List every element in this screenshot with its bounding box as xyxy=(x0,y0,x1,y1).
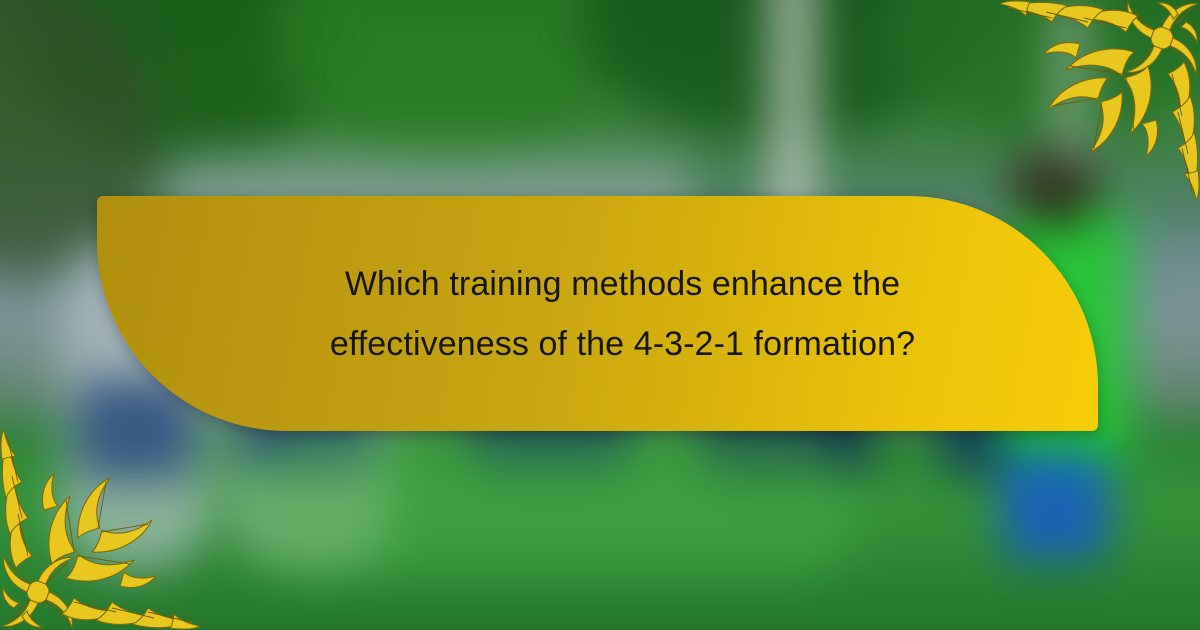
question-text: Which training methods enhance the effec… xyxy=(97,254,1098,374)
blur-blob-grass-light xyxy=(240,430,860,580)
floral-corner-ornament-top-right xyxy=(1000,0,1200,200)
floral-corner-ornament-bottom-left xyxy=(0,430,200,630)
blur-blob-player-green-shorts xyxy=(1000,450,1110,560)
share-card: Which training methods enhance the effec… xyxy=(0,0,1200,630)
question-banner: Which training methods enhance the effec… xyxy=(97,196,1098,431)
